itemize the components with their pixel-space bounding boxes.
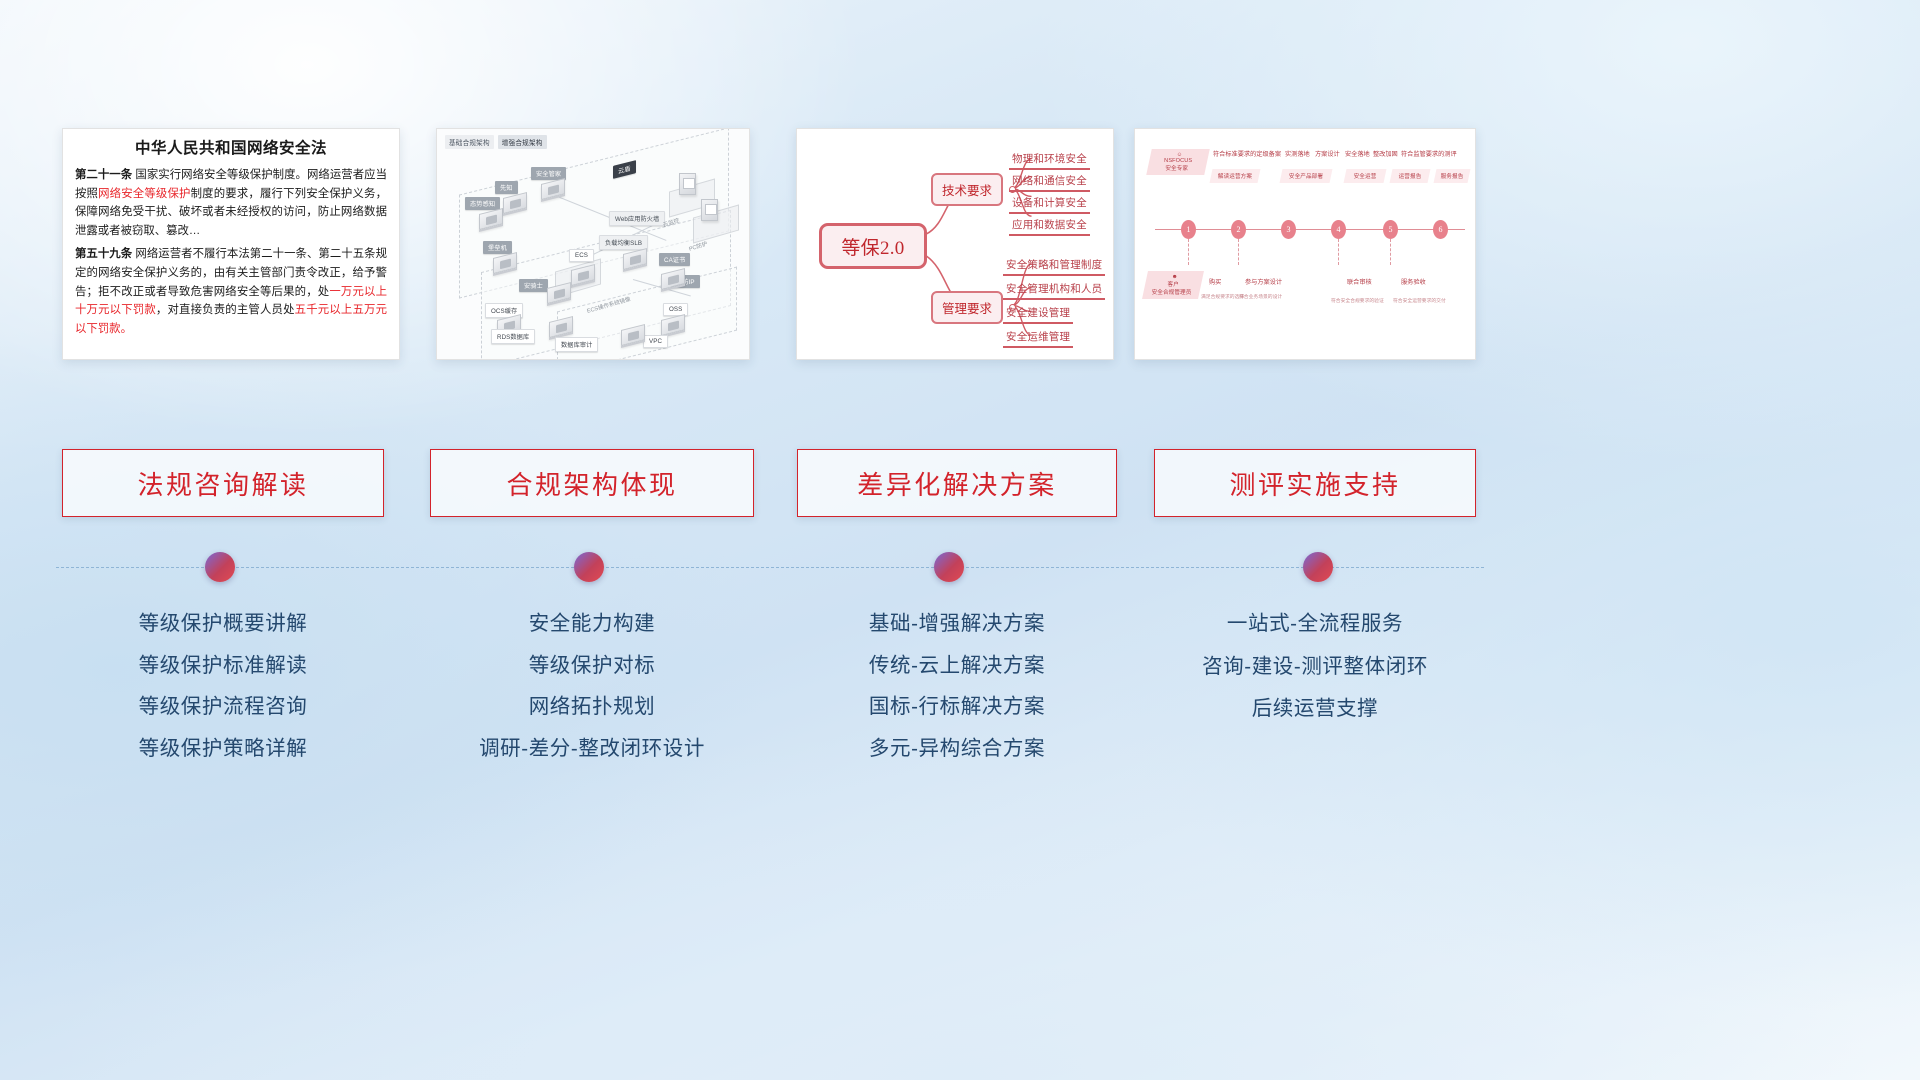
preview-card-law: 中华人民共和国网络安全法 第二十一条 国家实行网络安全等级保护制度。网络运营者应… [62, 128, 400, 360]
architecture-tab-enhanced[interactable]: 增强合规架构 [498, 135, 547, 149]
law-article-59: 第五十九条 网络运营者不履行本法第二十一条、第二十五条规定的网络安全保护义务的，… [75, 245, 387, 338]
architecture-tabs: 基础合规架构 增强合规架构 [445, 135, 547, 149]
law-article-21-label: 第二十一条 [75, 169, 132, 181]
architecture-node-bastion: 堡垒机 [483, 241, 512, 254]
roadmap-phase-tag-1: 解读运营方案 [1210, 169, 1261, 183]
roadmap-phase-tag-2: 安全产品部署 [1280, 169, 1333, 183]
list-item: 咨询-建设-测评整体闭环 [1154, 657, 1476, 678]
roadmap-phase-tag-4: 运营报告 [1390, 169, 1431, 183]
section-title-label-2: 合规架构体现 [506, 465, 677, 502]
timeline-track [56, 567, 1484, 568]
section-title-box-4[interactable]: 测评实施支持 [1154, 449, 1476, 517]
list-item: 国标-行标解决方案 [797, 697, 1117, 718]
law-article-59-label: 第五十九条 [75, 248, 132, 260]
list-item: 等级保护策略详解 [62, 739, 384, 760]
roadmap-step-4: 4 [1331, 220, 1346, 239]
roadmap-step-3: 3 [1281, 220, 1296, 239]
mindmap-branch-technical: 技术要求 [931, 173, 1003, 206]
roadmap-diagram: ☺ NSFOCUS 安全专家 符合标准要求的定级备案 实测落地 方案设计 安全落… [1135, 129, 1475, 359]
architecture-node-db-audit: 数据库审计 [555, 337, 598, 352]
roadmap-bottom-sub-4: 符合安全运营要求的交付 [1393, 297, 1446, 304]
timeline-dot-1[interactable] [205, 552, 235, 582]
roadmap-step-2: 2 [1231, 220, 1246, 239]
roadmap-expert-badge: ☺ NSFOCUS 安全专家 [1146, 149, 1210, 175]
list-item: 等级保护对标 [430, 656, 754, 677]
roadmap-phase-tag-5: 服务报告 [1434, 169, 1471, 183]
architecture-node-waf: Web应用防火墙 [609, 211, 665, 226]
section-title-box-2[interactable]: 合规架构体现 [430, 449, 754, 517]
roadmap-top-tag-6: 符合监管要求的测评 [1401, 149, 1457, 158]
architecture-node-foresight: 先知 [495, 181, 518, 194]
preview-card-mindmap: 等保2.0 技术要求 管理要求 物理和环境安全 网络和通信安全 设备和计算安全 … [796, 128, 1114, 360]
roadmap-bottom-tag-2: 参与方案设计 [1245, 277, 1282, 286]
list-item: 安全能力构建 [430, 614, 754, 635]
section-items-3: 基础-增强解决方案 传统-云上解决方案 国标-行标解决方案 多元-异构综合方案 [797, 614, 1117, 780]
mindmap-leaf-network: 网络和通信安全 [1009, 173, 1090, 192]
law-article-21-highlight: 网络安全等级保护 [98, 188, 190, 200]
roadmap-top-tag-4: 安全落地 [1345, 149, 1370, 158]
roadmap-connector [1390, 239, 1391, 265]
architecture-node-rds: RDS数据库 [491, 329, 535, 344]
roadmap-customer-line1: 客户 [1149, 280, 1197, 288]
roadmap-top-tag-1: 符合标准要求的定级备案 [1213, 149, 1281, 158]
roadmap-bottom-sub-3: 符合安全合规要求的验证 [1331, 297, 1384, 304]
roadmap-bottom-tag-3: 联合审核 [1347, 277, 1372, 286]
architecture-icon-monitor-b [701, 199, 718, 221]
section-title-label-1: 法规咨询解读 [137, 465, 308, 502]
architecture-node-situation: 态势感知 [465, 197, 500, 210]
architecture-node-anqishi: 安骑士 [519, 279, 548, 292]
timeline-dot-4[interactable] [1303, 552, 1333, 582]
roadmap-connector [1188, 239, 1189, 265]
roadmap-top-tag-3: 方案设计 [1315, 149, 1340, 158]
list-item: 等级保护概要讲解 [62, 614, 384, 635]
section-title-label-3: 差异化解决方案 [857, 465, 1057, 502]
timeline-dot-2[interactable] [574, 552, 604, 582]
roadmap-axis [1155, 229, 1465, 230]
mindmap-root: 等保2.0 [819, 223, 927, 269]
roadmap-customer-line2: 安全合规管理员 [1148, 288, 1196, 296]
mindmap-leaf-organization: 安全管理机构和人员 [1003, 281, 1105, 300]
architecture-node-vpc: VPC [643, 335, 668, 348]
mindmap: 等保2.0 技术要求 管理要求 物理和环境安全 网络和通信安全 设备和计算安全 … [797, 129, 1113, 359]
law-title: 中华人民共和国网络安全法 [75, 139, 387, 159]
mindmap-branch-management: 管理要求 [931, 291, 1003, 324]
roadmap-connector [1338, 239, 1339, 265]
mindmap-leaf-physical: 物理和环境安全 [1009, 151, 1090, 170]
list-item: 多元-异构综合方案 [797, 739, 1117, 760]
law-article-59-mid: ，对直接负责的主管人员处 [156, 304, 295, 316]
section-title-box-1[interactable]: 法规咨询解读 [62, 449, 384, 517]
list-item: 网络拓扑规划 [430, 697, 754, 718]
architecture-node-ecs: ECS [569, 249, 594, 262]
list-item: 调研-差分-整改闭环设计 [430, 739, 754, 760]
poster-stage: 中华人民共和国网络安全法 第二十一条 国家实行网络安全等级保护制度。网络运营者应… [0, 0, 1920, 1080]
timeline-dot-3[interactable] [934, 552, 964, 582]
architecture-node-ca: CA证书 [659, 253, 690, 266]
list-item: 后续运营支撑 [1154, 699, 1476, 720]
roadmap-customer-badge: ☻ 客户 安全合规管理员 [1142, 271, 1204, 299]
roadmap-step-6: 6 [1433, 220, 1448, 239]
roadmap-phase-tag-3: 安全运营 [1344, 169, 1387, 183]
architecture-node-slb: 负载均衡SLB [599, 235, 648, 250]
roadmap-top-tag-5: 整改加固 [1373, 149, 1398, 158]
section-items-4: 一站式-全流程服务 咨询-建设-测评整体闭环 后续运营支撑 [1154, 614, 1476, 742]
preview-card-architecture: 基础合规架构 增强合规架构 云盾 态势感知 先知 [436, 128, 750, 360]
section-title-label-4: 测评实施支持 [1229, 465, 1400, 502]
roadmap-bottom-sub-2: 符合业务场景的设计 [1239, 293, 1282, 300]
roadmap-expert-line2: 安全专家 [1152, 164, 1202, 172]
list-item: 等级保护标准解读 [62, 656, 384, 677]
section-items-1: 等级保护概要讲解 等级保护标准解读 等级保护流程咨询 等级保护策略详解 [62, 614, 384, 780]
architecture-icon-monitor-a [679, 173, 696, 195]
mindmap-leaf-construction: 安全建设管理 [1003, 305, 1073, 324]
list-item: 等级保护流程咨询 [62, 697, 384, 718]
architecture-diagram: 基础合规架构 增强合规架构 云盾 态势感知 先知 [437, 129, 749, 359]
section-items-2: 安全能力构建 等级保护对标 网络拓扑规划 调研-差分-整改闭环设计 [430, 614, 754, 780]
mindmap-leaf-operations: 安全运维管理 [1003, 329, 1073, 348]
roadmap-step-1: 1 [1181, 220, 1196, 239]
list-item: 一站式-全流程服务 [1154, 614, 1476, 635]
architecture-tab-basic[interactable]: 基础合规架构 [445, 135, 494, 149]
roadmap-bottom-tag-4: 服务验收 [1401, 277, 1426, 286]
mindmap-leaf-policy: 安全策略和管理制度 [1003, 257, 1105, 276]
law-article-21: 第二十一条 国家实行网络安全等级保护制度。网络运营者应当按照网络安全等级保护制度… [75, 166, 387, 240]
roadmap-step-5: 5 [1383, 220, 1398, 239]
roadmap-bottom-tag-1: 购买 [1209, 277, 1221, 286]
mindmap-leaf-application: 应用和数据安全 [1009, 217, 1090, 236]
mindmap-leaf-device: 设备和计算安全 [1009, 195, 1090, 214]
section-title-box-3[interactable]: 差异化解决方案 [797, 449, 1117, 517]
roadmap-connector [1238, 239, 1239, 265]
list-item: 传统-云上解决方案 [797, 656, 1117, 677]
roadmap-top-tag-2: 实测落地 [1285, 149, 1310, 158]
list-item: 基础-增强解决方案 [797, 614, 1117, 635]
roadmap-bottom-sub-1: 满足合规要求的选择 [1201, 293, 1244, 300]
preview-card-roadmap: ☺ NSFOCUS 安全专家 符合标准要求的定级备案 实测落地 方案设计 安全落… [1134, 128, 1476, 360]
